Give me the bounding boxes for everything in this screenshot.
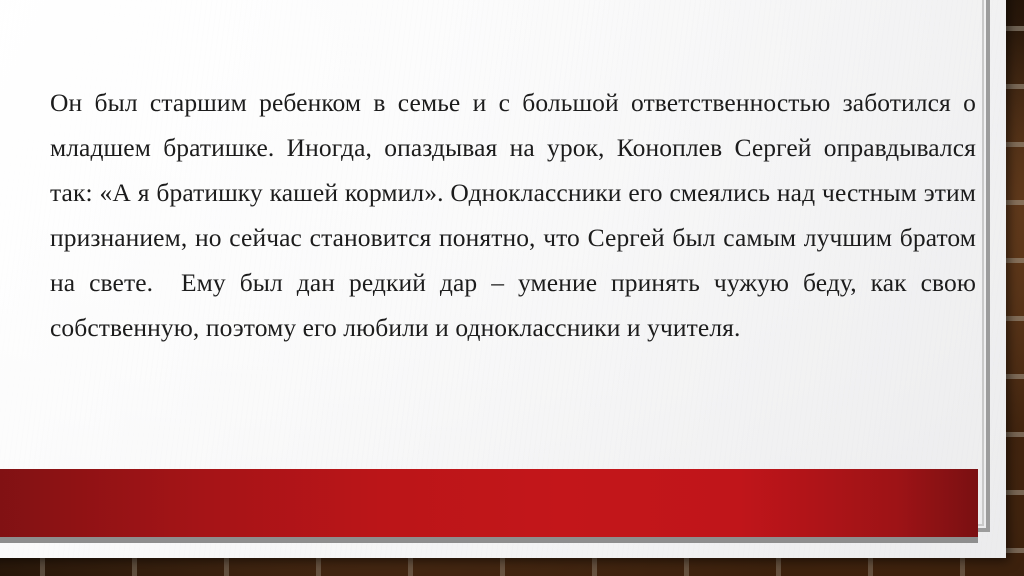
- bottom-red-banner: [0, 469, 978, 537]
- slide-body-text: Он был старшим ребенком в семье и с боль…: [50, 80, 976, 350]
- presentation-slide: Он был старшим ребенком в семье и с боль…: [0, 0, 1006, 558]
- slide-canvas: Он был старшим ребенком в семье и с боль…: [0, 0, 1024, 576]
